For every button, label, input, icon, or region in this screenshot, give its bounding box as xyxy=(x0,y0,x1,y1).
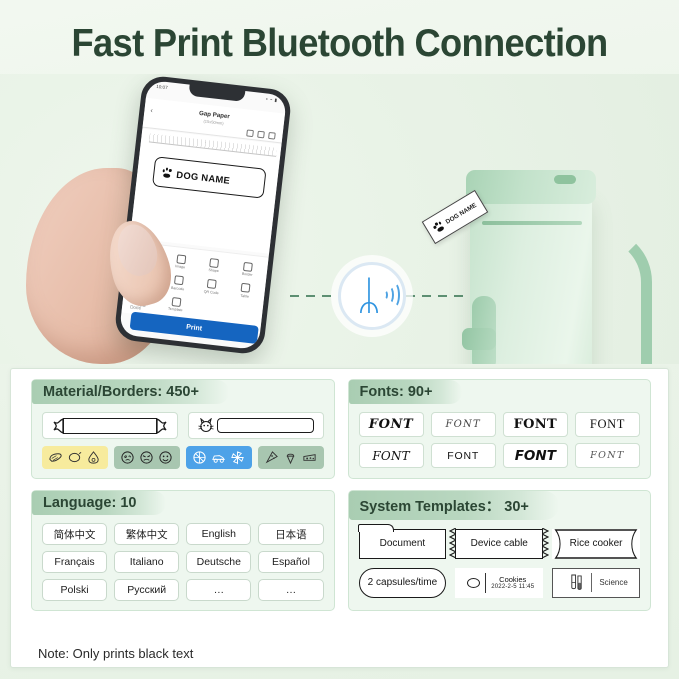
phone-screen: 10:07 ▪ ⌁ ▮ ‹ Gap Paper (15x50mm) xyxy=(119,80,287,350)
footnote: Note: Only prints black text xyxy=(38,646,193,661)
card-fonts: Fonts: 90+ FONT FONT FONT FONT FONT FONT… xyxy=(348,379,652,479)
tool-label: Shape xyxy=(208,268,219,273)
cat-face-icon xyxy=(198,418,215,434)
tool-label: Border xyxy=(242,272,253,277)
smiley-face-icon xyxy=(158,450,173,465)
tool-label: Barcode xyxy=(171,286,185,291)
font-sample[interactable]: FONT xyxy=(431,443,496,468)
tool-shape[interactable]: Shape xyxy=(197,254,232,278)
card-title: Language: 10 xyxy=(32,491,166,515)
template-label: Science xyxy=(599,578,627,587)
hero-photo: 10:07 ▪ ⌁ ▮ ‹ Gap Paper (15x50mm) xyxy=(0,74,679,364)
card-title: Fonts: 90+ xyxy=(349,380,463,404)
cheese-icon xyxy=(302,450,317,465)
printer-top-cover xyxy=(466,170,596,204)
language-item[interactable]: … xyxy=(258,579,323,601)
tool-border[interactable]: Border xyxy=(230,258,265,282)
status-icons: ▪ ⌁ ▮ xyxy=(266,96,278,103)
font-sample[interactable]: FONT xyxy=(575,412,640,437)
product-infographic: Fast Print Bluetooth Connection 10:07 ▪ … xyxy=(0,0,679,679)
water-drop-icon xyxy=(86,450,101,465)
language-item[interactable]: 繁体中文 xyxy=(114,523,179,545)
language-item[interactable]: 日本语 xyxy=(258,523,323,545)
label-preview[interactable]: DOG NAME xyxy=(152,156,267,198)
language-item[interactable]: 简体中文 xyxy=(42,523,107,545)
feature-grid: Material/Borders: 450+ xyxy=(31,379,651,611)
test-tube-icon xyxy=(569,574,584,591)
language-item[interactable]: Italiano xyxy=(114,551,179,573)
font-sample[interactable]: FONT xyxy=(503,412,568,437)
label-text: DOG NAME xyxy=(176,168,231,185)
card-body: FONT FONT FONT FONT FONT FONT FONT FONT xyxy=(349,404,651,468)
border-icon xyxy=(243,262,253,272)
paper-slot xyxy=(482,221,582,225)
sticker-group-food-yellow[interactable] xyxy=(42,446,108,469)
sticker-group-faces[interactable] xyxy=(114,446,180,469)
template-label: 2 capsules/time xyxy=(368,577,437,588)
cat-border-rect xyxy=(217,418,314,433)
pinwheel-icon xyxy=(230,450,245,465)
language-item[interactable]: Deutsche xyxy=(186,551,251,573)
printer-lever-tab xyxy=(462,328,496,350)
template-capsules[interactable]: 2 capsules/time xyxy=(359,567,447,598)
printer-vent xyxy=(554,175,576,184)
divider xyxy=(485,573,486,593)
bluetooth-glyph: ᛦ xyxy=(357,276,381,316)
sticker-icon-row xyxy=(42,446,324,469)
app-toolbar-icons[interactable] xyxy=(246,129,276,139)
lemon-icon xyxy=(67,450,82,465)
label-printer: DOG NAME xyxy=(470,170,600,364)
template-rice-cooker[interactable]: Rice cooker xyxy=(552,528,640,559)
template-document[interactable]: Document xyxy=(359,528,447,559)
paw-print-icon xyxy=(431,219,446,234)
font-sample[interactable]: FONT xyxy=(359,443,424,468)
card-body: Document Device cable xyxy=(349,520,651,598)
carrying-strap xyxy=(566,228,652,364)
language-item[interactable]: Polski xyxy=(42,579,107,601)
template-label: Cookies xyxy=(499,575,526,584)
smartphone: 10:07 ▪ ⌁ ▮ ‹ Gap Paper (15x50mm) xyxy=(113,74,292,355)
pizza-slice-icon xyxy=(264,450,279,465)
template-cookies[interactable]: Cookies 2022-2-5 11:45 xyxy=(455,567,543,598)
table-icon xyxy=(241,283,251,293)
page-title: Fast Print Bluetooth Connection xyxy=(24,22,655,66)
card-body xyxy=(32,404,334,469)
font-sample-grid: FONT FONT FONT FONT FONT FONT FONT FONT xyxy=(359,412,641,468)
tool-table[interactable]: Table xyxy=(228,279,263,303)
card-material-borders: Material/Borders: 450+ xyxy=(31,379,335,479)
angry-face-icon xyxy=(139,450,154,465)
font-sample[interactable]: FONT xyxy=(503,443,568,468)
redo-icon[interactable] xyxy=(257,131,265,139)
tool-label: QR Code xyxy=(204,289,219,295)
card-title: Material/Borders: 450+ xyxy=(32,380,229,404)
zigzag-edge xyxy=(449,528,456,559)
tool-label: Table xyxy=(240,294,249,299)
template-device-cable[interactable]: Device cable xyxy=(455,528,543,559)
language-item[interactable]: Français xyxy=(42,551,107,573)
language-item[interactable]: Русский xyxy=(114,579,179,601)
font-sample[interactable]: FONT xyxy=(431,412,496,437)
signal-waves-icon xyxy=(382,280,400,310)
image-icon xyxy=(176,254,186,264)
divider xyxy=(591,573,592,592)
connection-dashes-right xyxy=(406,295,464,297)
card-language: Language: 10 简体中文 繁体中文 English 日本语 Franç… xyxy=(31,490,335,611)
template-grid: Document Device cable xyxy=(359,528,641,598)
card-system-templates: System Templates： 30+ Document Device ca… xyxy=(348,490,652,611)
border-preview-row xyxy=(42,412,324,439)
template-sublabel: 2022-2-5 11:45 xyxy=(491,584,534,590)
language-item[interactable]: English xyxy=(186,523,251,545)
template-science[interactable]: Science xyxy=(552,567,640,598)
wrapper-right-twist xyxy=(156,418,168,434)
beach-ball-icon xyxy=(192,450,207,465)
ice-cream-icon xyxy=(283,450,298,465)
wrapper-left-twist xyxy=(52,418,64,434)
qrcode-icon xyxy=(207,279,217,289)
font-sample[interactable]: FONT xyxy=(359,412,424,437)
tool-label: Template xyxy=(168,307,183,313)
template-icon xyxy=(171,297,181,307)
feature-panel: Material/Borders: 450+ xyxy=(10,368,669,668)
tool-qrcode[interactable]: QR Code xyxy=(194,275,229,299)
bread-icon xyxy=(48,450,63,465)
cookie-icon xyxy=(467,578,480,588)
language-item[interactable]: Español xyxy=(258,551,323,573)
paw-print-icon xyxy=(161,167,173,179)
template-label: Device cable xyxy=(471,538,528,549)
card-title: System Templates： 30+ xyxy=(349,491,559,520)
sleepy-face-icon xyxy=(120,450,135,465)
connection-dashes-left xyxy=(290,295,338,297)
tool-label: Image xyxy=(175,265,185,270)
language-item[interactable]: … xyxy=(186,579,251,601)
border-preview-candy-wrapper[interactable] xyxy=(42,412,178,439)
language-grid: 简体中文 繁体中文 English 日本语 Français Italiano … xyxy=(42,523,324,601)
undo-icon[interactable] xyxy=(246,129,254,137)
status-time: 10:07 xyxy=(156,84,168,90)
barcode-icon xyxy=(174,275,184,285)
zigzag-edge xyxy=(542,528,549,559)
shape-icon xyxy=(210,258,220,268)
template-label: Document xyxy=(380,538,426,549)
border-preview-cat-face[interactable] xyxy=(188,412,324,439)
sticker-group-toys-blue[interactable] xyxy=(186,446,252,469)
card-body: 简体中文 繁体中文 English 日本语 Français Italiano … xyxy=(32,515,334,601)
toy-car-icon xyxy=(211,450,226,465)
wrapper-rect xyxy=(63,418,157,434)
settings-icon[interactable] xyxy=(268,132,276,140)
sticker-group-snacks[interactable] xyxy=(258,446,324,469)
font-sample[interactable]: FONT xyxy=(575,443,640,468)
template-label: Rice cooker xyxy=(570,538,623,549)
